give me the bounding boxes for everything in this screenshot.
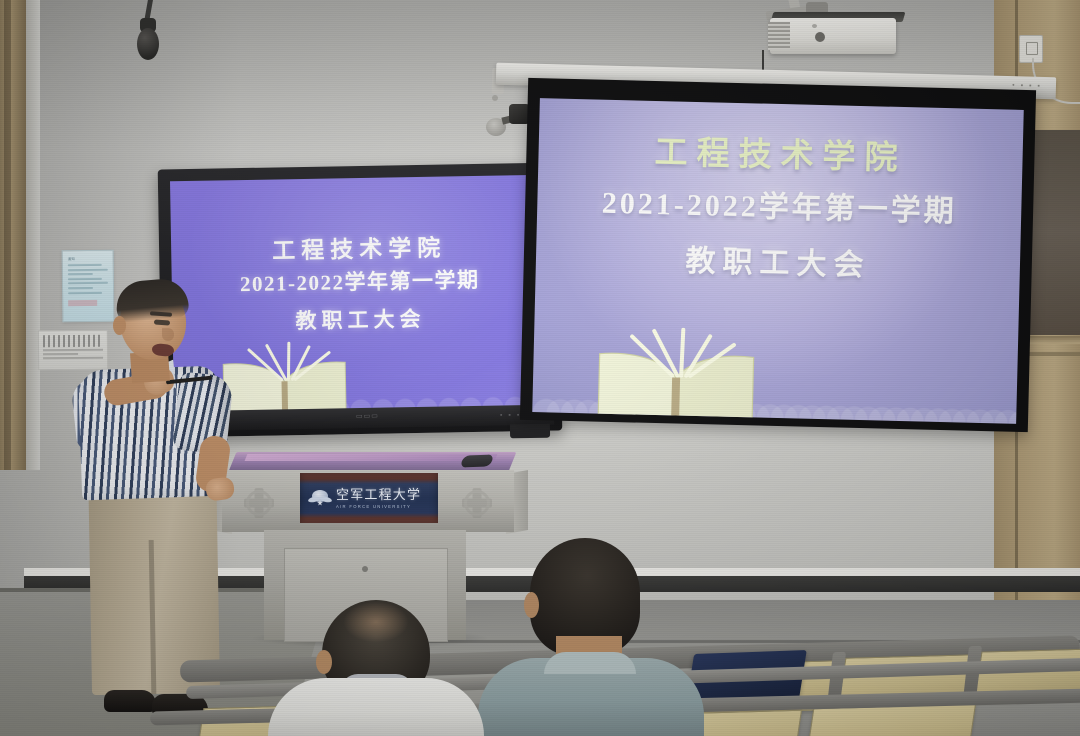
emblem-ring [246, 490, 272, 516]
presenter-ear [113, 316, 126, 335]
attendee-white-shirt-torso [268, 678, 484, 736]
podium-emblem-left-icon [242, 486, 276, 520]
projector-vent [768, 22, 790, 50]
presenter-nose [162, 328, 174, 341]
notice-text-line [68, 264, 102, 266]
ceiling-microphone-icon [137, 28, 159, 60]
left-door-seam [4, 0, 11, 470]
camera-mount-screw [492, 95, 498, 101]
podium-plaque-chinese: 空军工程大学 [336, 488, 421, 501]
notice-text-line [68, 291, 102, 293]
notice-text-line [43, 349, 103, 351]
podium-plaque-inner: 空军工程大学 AIR FORCE UNIVERSITY [303, 482, 435, 514]
projection-screen-surface[interactable]: 工程技术学院 2021-2022学年第一学期 教职工大会 [532, 98, 1024, 424]
podium-top-highlight [245, 454, 498, 461]
left-wall-edge [26, 0, 40, 470]
lcd-brand-label: ▭▭▭ [356, 412, 379, 420]
notice-text-line [68, 287, 93, 289]
attendee-grey-polo-ear [524, 592, 539, 618]
lcd-display-screen[interactable]: 工程技术学院 2021-2022学年第一学期 教职工大会 [170, 175, 550, 414]
notice-text-line [68, 278, 102, 280]
notice-text-line [43, 353, 78, 355]
lcd-stand [510, 424, 550, 439]
presenter-eye [154, 319, 170, 325]
attendee-white-shirt-scalp [344, 602, 408, 642]
projector-led-indicator [812, 24, 817, 28]
notice-text-line [43, 357, 103, 359]
wall-notice-blue: 通知 [62, 250, 115, 323]
lecture-hall-photo: 通知 工程技术学院 2021-2022学年第一学期 教职工大会 ▭▭▭ • ▪ … [0, 0, 1080, 736]
air-force-crest-icon [309, 489, 331, 507]
notice-text-line [68, 273, 93, 275]
notice-text-line [68, 282, 108, 284]
podium-plaque-english: AIR FORCE UNIVERSITY [336, 504, 421, 509]
presenter-shoe-left [104, 690, 156, 712]
slide-open-book-icon [580, 325, 773, 424]
crest-wing-right [320, 496, 333, 503]
attendee-white-shirt-ear [316, 650, 332, 674]
notice-barcode-band [43, 335, 103, 347]
attendee-grey-polo-collar [544, 652, 636, 674]
wall-notice-blue-heading: 通知 [68, 256, 108, 261]
podium-emblem-right-icon [460, 486, 494, 520]
notice-text-line [68, 268, 108, 270]
podium-cabinet-latch[interactable] [362, 566, 368, 572]
wall-notice-grey [38, 330, 108, 370]
notice-highlight-band [68, 299, 97, 305]
emblem-ring [464, 490, 490, 516]
crest-wing-left [308, 496, 321, 503]
projector-lens [815, 32, 825, 42]
lcd-slide-title: 工程技术学院 [171, 227, 548, 268]
lcd-open-book-icon [209, 340, 360, 413]
